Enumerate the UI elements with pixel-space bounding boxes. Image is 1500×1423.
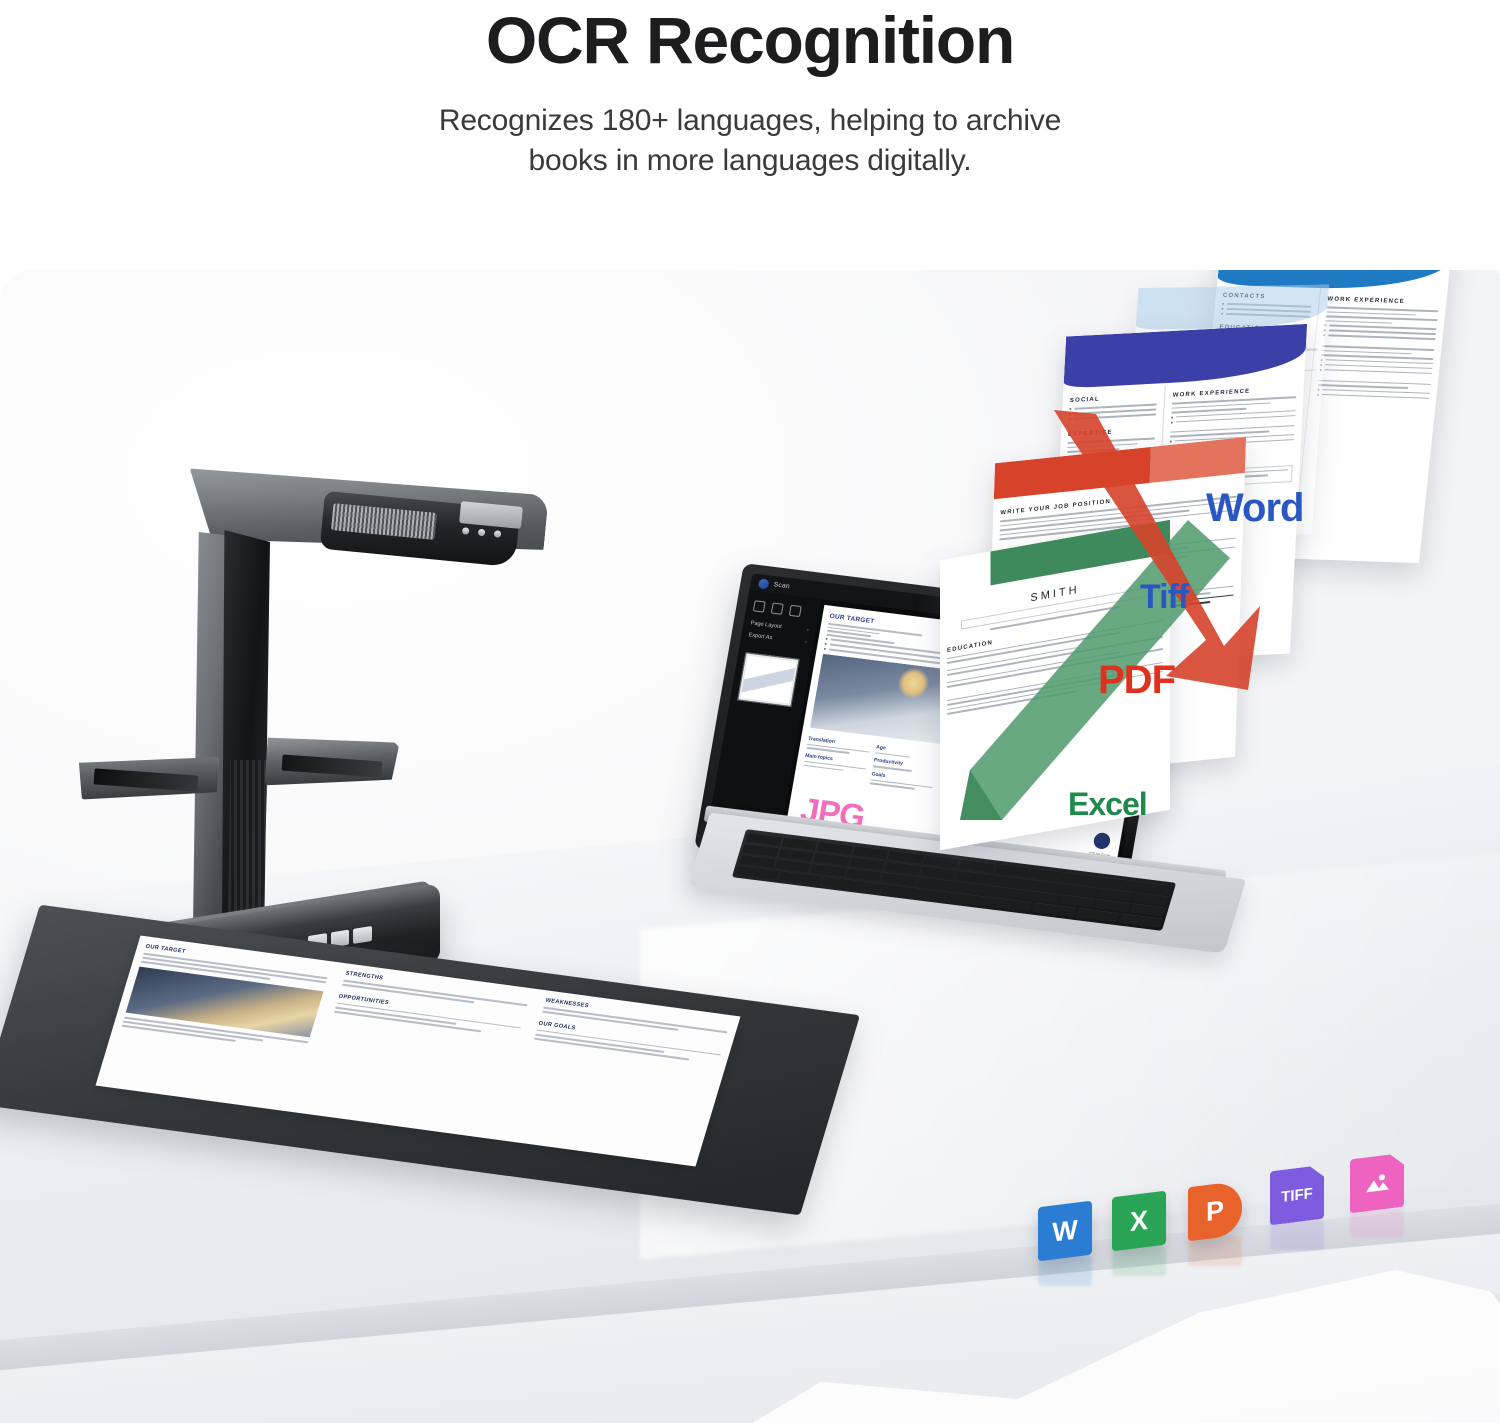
table-icon[interactable] bbox=[771, 603, 784, 615]
scanner-column-ribs bbox=[228, 760, 268, 925]
picture-glyph-icon bbox=[1363, 1170, 1391, 1195]
app-logo-icon bbox=[758, 578, 770, 589]
subtitle-line-1: Recognizes 180+ languages, helping to ar… bbox=[0, 101, 1500, 141]
page-title: OCR Recognition bbox=[0, 6, 1500, 75]
chevron-right-icon: › bbox=[806, 627, 809, 633]
tiff-file-icon[interactable]: TIFF bbox=[1270, 1165, 1324, 1226]
tiff-file-label: TIFF bbox=[1281, 1185, 1313, 1206]
subtitle-line-2: books in more languages digitally. bbox=[0, 141, 1500, 181]
format-tag-pdf: PDF bbox=[1098, 658, 1175, 703]
red-arrow-icon bbox=[1010, 410, 1290, 700]
doc-heading-social: SOCIAL bbox=[1070, 393, 1158, 404]
scanner-base-button[interactable] bbox=[353, 926, 372, 944]
sidebar-item-label: Page Layout bbox=[750, 620, 782, 630]
doc-heading-work-experience: WORK EXPERIENCE bbox=[1327, 296, 1440, 306]
sidebar-item-page-layout[interactable]: Page Layout › bbox=[750, 620, 809, 633]
app-name-label: Scan bbox=[773, 581, 790, 590]
image-file-icon[interactable] bbox=[1350, 1153, 1404, 1214]
page-thumbnail-preview bbox=[741, 656, 796, 704]
excel-file-label: X bbox=[1130, 1204, 1148, 1237]
page-thumbnail[interactable] bbox=[737, 652, 799, 707]
format-tag-excel: Excel bbox=[1068, 786, 1147, 823]
word-file-icon[interactable]: W bbox=[1038, 1201, 1092, 1262]
powerpoint-file-icon[interactable]: P bbox=[1188, 1181, 1242, 1242]
scanner-head-button[interactable] bbox=[478, 529, 486, 537]
powerpoint-file-label: P bbox=[1206, 1194, 1224, 1227]
sidebar-item-label: Export As bbox=[748, 632, 773, 641]
scanner-head-button[interactable] bbox=[494, 530, 502, 538]
chevron-right-icon: › bbox=[804, 639, 807, 645]
sidebar-item-export-as[interactable]: Export As › bbox=[748, 632, 807, 645]
word-file-label: W bbox=[1052, 1214, 1077, 1248]
page-header: OCR Recognition Recognizes 180+ language… bbox=[0, 0, 1500, 180]
file-format-icons-row: W X P TIFF bbox=[1030, 1160, 1410, 1270]
page-subtitle: Recognizes 180+ languages, helping to ar… bbox=[0, 101, 1500, 180]
hero-product-image: CZUR OUR TARGET STRENGTHS OPPORTUNITIES … bbox=[0, 270, 1500, 1423]
crop-icon[interactable] bbox=[753, 600, 766, 612]
sidebar-toolbar bbox=[753, 600, 813, 618]
excel-file-icon[interactable]: X bbox=[1112, 1191, 1166, 1252]
format-tag-word: Word bbox=[1206, 486, 1303, 531]
format-tag-tiff: Tiff bbox=[1140, 578, 1188, 617]
scanner-head-button[interactable] bbox=[462, 527, 470, 535]
edit-icon[interactable] bbox=[789, 605, 802, 617]
flying-documents-group: CONTACTS EDUCATION SKILLS WORK bbox=[950, 270, 1500, 910]
